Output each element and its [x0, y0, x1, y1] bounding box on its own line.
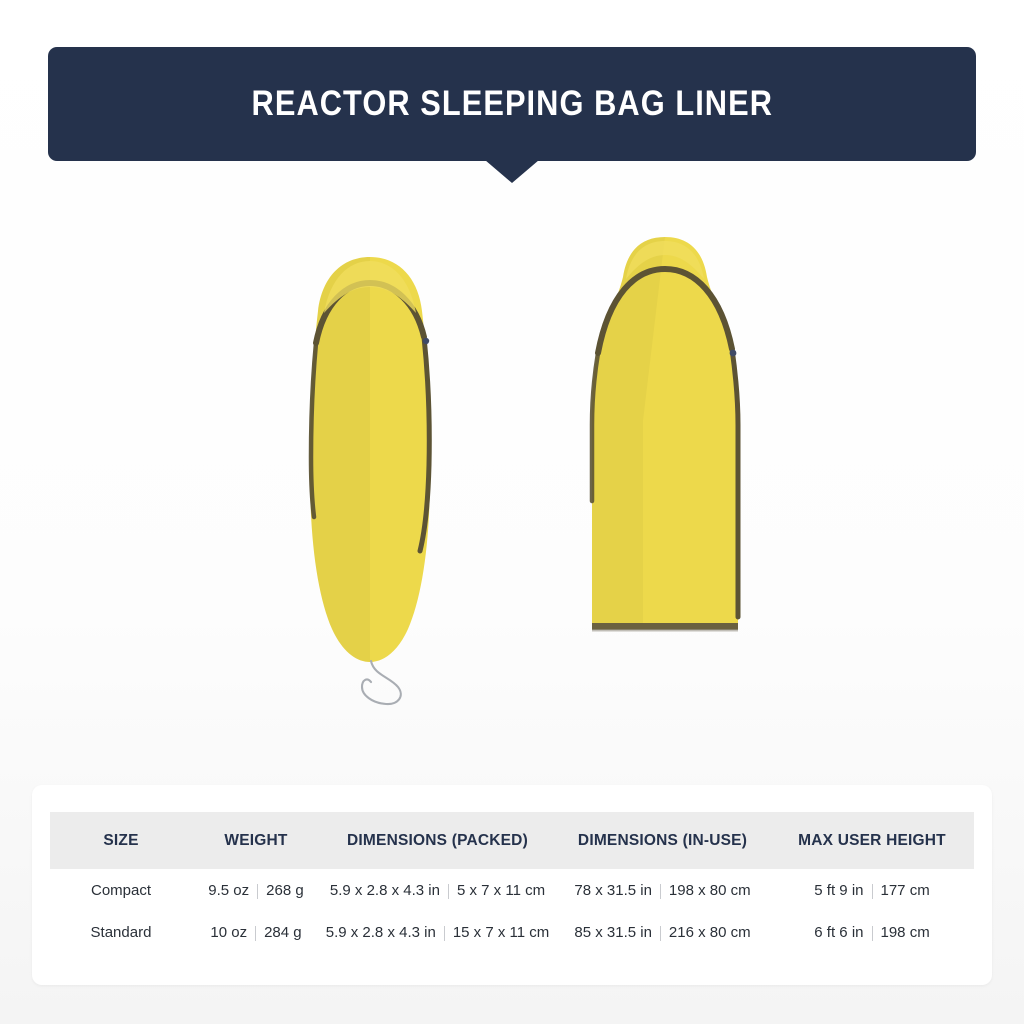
cell-packed-imperial: 5.9 x 2.8 x 4.3 in: [330, 882, 440, 899]
table-row: Standard 10 oz 284 g 5.9 x 2.8 x 4.3 in …: [50, 911, 974, 953]
cell-dimensions-in-use: 85 x 31.5 in 216 x 80 cm: [555, 911, 770, 953]
standard-zipper-pull: [730, 350, 737, 357]
cell-weight-metric: 284 g: [264, 924, 302, 941]
standard-bottom-hem-shadow: [592, 629, 738, 632]
unit-separator: [444, 926, 445, 941]
cell-size: Standard: [50, 911, 192, 953]
spec-table-card: SIZE WEIGHT DIMENSIONS (PACKED) DIMENSIO…: [32, 785, 992, 985]
banner-pointer-triangle: [485, 160, 539, 183]
cell-inuse-imperial: 85 x 31.5 in: [574, 924, 652, 941]
column-header-size: SIZE: [50, 812, 192, 869]
product-image-compact: [270, 225, 470, 675]
cell-packed-imperial: 5.9 x 2.8 x 4.3 in: [326, 924, 436, 941]
unit-separator: [448, 884, 449, 899]
unit-separator: [660, 884, 661, 899]
product-image-standard: [565, 225, 765, 655]
unit-separator: [872, 884, 873, 899]
spec-table-body: Compact 9.5 oz 268 g 5.9 x 2.8 x 4.3 in …: [50, 869, 974, 953]
cell-dimensions-in-use: 78 x 31.5 in 198 x 80 cm: [555, 869, 770, 911]
unit-separator: [660, 926, 661, 941]
column-header-max-user-height: MAX USER HEIGHT: [770, 812, 974, 869]
unit-separator: [872, 926, 873, 941]
cell-weight: 10 oz 284 g: [192, 911, 320, 953]
page-title: REACTOR SLEEPING BAG LINER: [251, 84, 772, 124]
header-banner: REACTOR SLEEPING BAG LINER: [48, 47, 976, 161]
table-row: Compact 9.5 oz 268 g 5.9 x 2.8 x 4.3 in …: [50, 869, 974, 911]
cell-dimensions-packed: 5.9 x 2.8 x 4.3 in 15 x 7 x 11 cm: [320, 911, 555, 953]
cell-height-metric: 177 cm: [881, 882, 930, 899]
infographic-page: REACTOR SLEEPING BAG LINER: [0, 0, 1024, 1024]
unit-separator: [255, 926, 256, 941]
compact-zipper-pull: [423, 338, 429, 344]
column-header-weight: WEIGHT: [192, 812, 320, 869]
cell-weight-metric: 268 g: [266, 882, 304, 899]
spec-table-head: SIZE WEIGHT DIMENSIONS (PACKED) DIMENSIO…: [50, 812, 974, 869]
banner-body: REACTOR SLEEPING BAG LINER: [48, 47, 976, 161]
cell-dimensions-packed: 5.9 x 2.8 x 4.3 in 5 x 7 x 11 cm: [320, 869, 555, 911]
column-header-dimensions-packed: DIMENSIONS (PACKED): [320, 812, 555, 869]
cell-inuse-metric: 216 x 80 cm: [669, 924, 751, 941]
cell-max-user-height: 5 ft 9 in 177 cm: [770, 869, 974, 911]
cell-height-imperial: 5 ft 9 in: [814, 882, 863, 899]
cell-max-user-height: 6 ft 6 in 198 cm: [770, 911, 974, 953]
standard-bottom-hem: [592, 623, 738, 630]
cell-weight-imperial: 9.5 oz: [208, 882, 249, 899]
cell-inuse-imperial: 78 x 31.5 in: [574, 882, 652, 899]
cell-size: Compact: [50, 869, 192, 911]
compact-body-shading: [310, 257, 370, 662]
cell-weight-imperial: 10 oz: [210, 924, 247, 941]
cell-inuse-metric: 198 x 80 cm: [669, 882, 751, 899]
cell-height-imperial: 6 ft 6 in: [814, 924, 863, 941]
product-illustrations: Compact Standard: [0, 225, 1024, 725]
spec-table-header-row: SIZE WEIGHT DIMENSIONS (PACKED) DIMENSIO…: [50, 812, 974, 869]
cell-weight: 9.5 oz 268 g: [192, 869, 320, 911]
compact-drawcord: [362, 661, 401, 704]
cell-height-metric: 198 cm: [881, 924, 930, 941]
cell-packed-metric: 15 x 7 x 11 cm: [453, 924, 549, 941]
unit-separator: [257, 884, 258, 899]
cell-packed-metric: 5 x 7 x 11 cm: [457, 882, 545, 899]
column-header-dimensions-in-use: DIMENSIONS (IN-USE): [555, 812, 770, 869]
spec-table: SIZE WEIGHT DIMENSIONS (PACKED) DIMENSIO…: [50, 812, 974, 953]
